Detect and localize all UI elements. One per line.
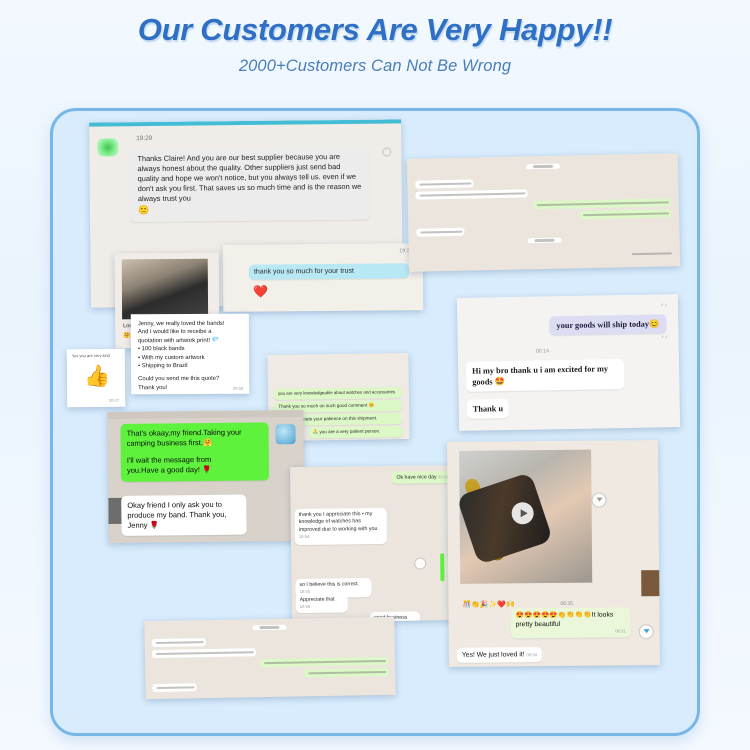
- avatar: [97, 138, 118, 156]
- reaction-emoji: 🤗: [123, 332, 131, 339]
- incoming-bubble: Yes! We just loved it! 08:54: [457, 647, 542, 663]
- blur-text: [264, 660, 386, 665]
- card-camping-conversation[interactable]: That's okaay,my friend.Taking your campi…: [107, 410, 304, 543]
- comment-line-1: 😍😍😍😍😍👏👏👏👏It looks: [516, 610, 626, 620]
- card-appreciate-conversation[interactable]: Ok have nice day 20:11 thank you I appre…: [290, 465, 467, 622]
- media-thumbnail: [641, 570, 660, 596]
- blur-text: [420, 230, 462, 233]
- card-thank-you-trust[interactable]: 19:39 thank you so much for your trust ❤…: [223, 243, 424, 312]
- incoming-bubble: thank you I appreciate this • my knowled…: [295, 508, 387, 545]
- outgoing-bubble: you are very knowledgeable about watches…: [274, 387, 402, 400]
- date-divider: [252, 625, 286, 631]
- blur-text: [308, 671, 386, 675]
- incoming-bubble: Thank u: [467, 399, 510, 419]
- timestamp: 20:07: [109, 398, 120, 403]
- outgoing-bubble: 🙏 you are a very patient person.: [308, 426, 402, 438]
- message-text: Ok have nice day: [396, 474, 436, 480]
- thumbs-up-icon: 👍: [84, 365, 110, 389]
- timestamp: 18:54: [299, 534, 310, 539]
- date-divider: [525, 164, 559, 170]
- testimonial-collage-panel: 19:29 Thanks Claire! And you are our bes…: [50, 108, 700, 736]
- blur-text: [420, 192, 526, 197]
- incoming-bubble: [415, 179, 473, 188]
- timestamp: 08:54: [526, 652, 537, 657]
- blur-text: [156, 686, 194, 689]
- date-divider: [527, 238, 561, 244]
- outgoing-bubble: Ok have nice day 20:11: [391, 471, 453, 484]
- message-bubble: Thanks Claire! And you are our best supp…: [129, 146, 370, 223]
- incoming-bubble: [152, 683, 196, 692]
- blur-text: [534, 239, 554, 242]
- play-icon[interactable]: [512, 502, 534, 524]
- timestamp: 20:58: [233, 386, 244, 391]
- incoming-bubble: Okay friend I only ask you to produce my…: [121, 495, 246, 537]
- card-jenny-quote[interactable]: Jenny, we really loved the bands! And I …: [131, 314, 249, 395]
- read-receipt-icon: ✓✓: [660, 302, 668, 308]
- outgoing-bubble: [579, 209, 671, 219]
- outgoing-bubble: [304, 668, 388, 677]
- card-thumbs-up-sticker[interactable]: Yes you are very kind 👍 20:07: [67, 349, 126, 408]
- page-header: Our Customers Are Very Happy!! 2000+Cust…: [0, 0, 750, 76]
- blur-text: [537, 201, 669, 206]
- time-divider: 00:14: [536, 348, 549, 354]
- heart-icon: ❤️: [253, 284, 268, 298]
- video-thumbnail[interactable]: [459, 450, 592, 584]
- incoming-bubble: Hi my bro thank u i am excited for my go…: [466, 359, 625, 392]
- product-photo: [122, 259, 208, 320]
- timestamp: 18:55: [300, 588, 311, 593]
- message-text: Yes! We just loved it!: [462, 651, 525, 659]
- blur-text: [533, 165, 553, 168]
- blur-text: [259, 626, 279, 629]
- outgoing-bubble: That's okaay,my friend.Taking your campi…: [120, 422, 269, 481]
- outgoing-bubble: thank you so much for your trust: [249, 263, 409, 280]
- incoming-bubble: Appreciate that 18:55: [296, 593, 348, 613]
- outgoing-bubble: 😍😍😍😍😍👏👏👏👏It looks pretty beautiful 08:31: [510, 607, 630, 638]
- outgoing-bubble: [533, 198, 671, 209]
- reply-line-3: Jenny 🌹: [127, 520, 240, 531]
- card-whatsapp-thumbnail-top[interactable]: [407, 153, 680, 272]
- outgoing-bubble: [260, 657, 388, 667]
- outgoing-bubble: your goods will ship today😊: [549, 314, 666, 335]
- quote-text: Jenny, we really loved the bands! And I …: [138, 320, 242, 393]
- globe-avatar: [275, 424, 295, 444]
- card-top-strip: [107, 410, 303, 419]
- card-watch-video[interactable]: 🎊👏🎉✨❤️🙌 06:35 😍😍😍😍😍👏👏👏👏It looks pretty b…: [447, 440, 660, 667]
- blur-text: [583, 212, 669, 216]
- page-subtitle: 2000+Customers Can Not Be Wrong: [0, 57, 750, 76]
- card-ship-today[interactable]: your goods will ship today😊 ✓✓ ✓✓ 00:14 …: [457, 294, 680, 431]
- page-title: Our Customers Are Very Happy!!: [0, 12, 750, 48]
- video-timestamp: 06:35: [560, 601, 573, 607]
- emoji-placeholder-icon: [382, 147, 391, 156]
- blur-text: [419, 182, 471, 186]
- reply-line-2: produce my band. Thank you,: [127, 510, 240, 521]
- smiley-emoji: 🙂: [138, 202, 362, 216]
- incoming-bubble: [416, 189, 528, 199]
- message-text: Thanks Claire! And you are our best supp…: [137, 152, 361, 203]
- timestamp: 18:55: [300, 603, 311, 608]
- incoming-bubble: [152, 638, 206, 647]
- card-whatsapp-thumbnail-bottom[interactable]: [144, 617, 395, 699]
- message-timestamp: 19:29: [136, 135, 152, 142]
- forward-icon[interactable]: [591, 493, 606, 508]
- incoming-bubble: [152, 648, 256, 658]
- card-top-bar: [89, 119, 401, 126]
- timestamp: 08:31: [516, 629, 626, 636]
- scroll-down-icon[interactable]: [639, 624, 654, 639]
- reaction-emojis: 🎊👏🎉✨❤️🙌: [462, 600, 514, 608]
- message-line-4: you.Have a good day! 🌹: [127, 465, 263, 477]
- message-text: Appreciate that: [300, 596, 335, 602]
- incoming-bubble: [416, 228, 464, 237]
- sticker-header: Yes you are very kind: [72, 353, 110, 358]
- blur-text: [156, 651, 254, 655]
- play-icon[interactable]: [414, 557, 426, 569]
- blur-text: [156, 641, 204, 644]
- voice-waveform: [440, 553, 444, 581]
- message-text: so I believe this is correct.: [299, 581, 359, 588]
- quote-line-5: Thank you!: [138, 383, 242, 392]
- message-text: thank you I appreciate this • my knowled…: [299, 511, 378, 533]
- outgoing-bubble: [628, 249, 672, 258]
- read-receipt-icon: ✓✓: [661, 334, 669, 340]
- blur-text: [632, 252, 672, 255]
